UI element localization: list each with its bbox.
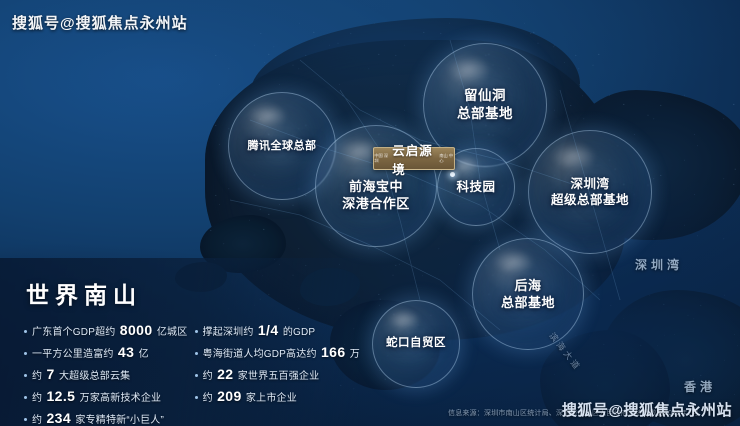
fact-prefix: 约: [203, 371, 213, 382]
fact-number: 22: [213, 366, 238, 382]
fact-item: 约 22 家世界五百强企业: [195, 366, 360, 382]
fact-suffix: 大超级总部云集: [59, 371, 130, 382]
fact-number: 166: [317, 344, 350, 360]
fact-item: 约 209 家上市企业: [195, 388, 360, 404]
fact-prefix: 广东首个GDP超约: [32, 327, 115, 338]
district-bubble-houhai[interactable]: 后海 总部基地: [472, 238, 584, 350]
fact-text: 约 234 家专精特新“小巨人”: [32, 410, 164, 426]
fact-text: 约 7 大超级总部云集: [32, 366, 130, 382]
fact-number: 43: [114, 344, 139, 360]
fact-number: 8000: [115, 322, 156, 338]
watermark-top-left: 搜狐号@搜狐焦点永州站: [12, 12, 188, 33]
fact-suffix: 家上市企业: [246, 393, 297, 404]
fact-prefix: 约: [32, 371, 42, 382]
bullet-dot-icon: [195, 352, 198, 355]
fact-number: 7: [42, 366, 59, 382]
fact-prefix: 约: [203, 393, 213, 404]
bullet-dot-icon: [24, 330, 27, 333]
fact-prefix: 一平方公里造富约: [32, 349, 114, 360]
bullet-dot-icon: [24, 374, 27, 377]
fact-prefix: 撑起深圳约: [203, 327, 254, 338]
bullet-dot-icon: [195, 396, 198, 399]
fact-prefix: 约: [32, 415, 42, 426]
fact-text: 广东首个GDP超约 8000 亿城区: [32, 322, 187, 338]
bullet-dot-icon: [195, 374, 198, 377]
district-bubble-shekou[interactable]: 蛇口自贸区: [372, 300, 460, 388]
fact-item: 撑起深圳约 1/4 的GDP: [195, 322, 360, 338]
fact-text: 撑起深圳约 1/4 的GDP: [203, 322, 316, 338]
district-bubble-shenzhenwan[interactable]: 深圳湾 超级总部基地: [528, 130, 652, 254]
badge-main-label: 云启源境: [392, 140, 436, 178]
map-marker-dot: [450, 172, 455, 177]
info-panel-title: 世界南山: [26, 276, 360, 310]
watermark-bottom-right: 搜狐号@搜狐焦点永州站: [562, 399, 732, 420]
fact-text: 约 209 家上市企业: [203, 388, 297, 404]
district-label-keji: 科技园: [456, 179, 495, 196]
fact-number: 1/4: [254, 322, 283, 338]
fact-item: 一平方公里造富约 43 亿: [24, 344, 191, 360]
fact-column-left: 广东首个GDP超约 8000 亿城区一平方公里造富约 43 亿约 7 大超级总部…: [24, 322, 191, 426]
district-label-houhai: 后海 总部基地: [501, 277, 555, 311]
fact-text: 约 12.5 万家高新技术企业: [32, 388, 161, 404]
bullet-dot-icon: [195, 330, 198, 333]
district-label-shenzhenwan: 深圳湾 超级总部基地: [551, 176, 629, 209]
fact-number: 12.5: [42, 388, 79, 404]
fact-item: 约 234 家专精特新“小巨人”: [24, 410, 191, 426]
map-infographic: 深圳湾 香港 滨海大道 腾讯全球总部 留仙洞 总部基地 前海宝中 深港合作区 科…: [0, 0, 740, 426]
fact-suffix: 亿: [139, 349, 149, 360]
badge-side-right: 南山 中心: [439, 154, 453, 163]
fact-prefix: 粤海街道人均GDP高达约: [203, 349, 317, 360]
district-label-shekou: 蛇口自贸区: [386, 336, 446, 351]
fact-suffix: 万家高新技术企业: [80, 393, 162, 404]
map-label-hong-kong: 香港: [684, 378, 716, 395]
fact-column-right: 撑起深圳约 1/4 的GDP粤海街道人均GDP高达约 166 万约 22 家世界…: [195, 322, 360, 426]
bullet-dot-icon: [24, 352, 27, 355]
fact-text: 粤海街道人均GDP高达约 166 万: [203, 344, 360, 360]
fact-text: 约 22 家世界五百强企业: [203, 366, 320, 382]
info-panel: 世界南山 广东首个GDP超约 8000 亿城区一平方公里造富约 43 亿约 7 …: [0, 258, 360, 426]
fact-item: 粤海街道人均GDP高达约 166 万: [195, 344, 360, 360]
district-label-tencent: 腾讯全球总部: [248, 139, 317, 154]
project-badge-yunqiyuanjing[interactable]: 中国 深圳 云启源境 南山 中心: [373, 147, 455, 170]
fact-item: 广东首个GDP超约 8000 亿城区: [24, 322, 191, 338]
fact-suffix: 家世界五百强企业: [238, 371, 320, 382]
fact-item: 约 12.5 万家高新技术企业: [24, 388, 191, 404]
fact-suffix: 亿城区: [157, 327, 188, 338]
fact-item: 约 7 大超级总部云集: [24, 366, 191, 382]
fact-suffix: 万: [350, 349, 360, 360]
fact-number: 209: [213, 388, 246, 404]
fact-suffix: 的GDP: [283, 327, 315, 338]
bullet-dot-icon: [24, 418, 27, 421]
info-panel-columns: 广东首个GDP超约 8000 亿城区一平方公里造富约 43 亿约 7 大超级总部…: [24, 322, 360, 426]
fact-prefix: 约: [32, 393, 42, 404]
bullet-dot-icon: [24, 396, 27, 399]
fact-suffix: 家专精特新“小巨人”: [75, 415, 164, 426]
map-label-shenzhen-bay: 深圳湾: [635, 256, 683, 273]
fact-text: 一平方公里造富约 43 亿: [32, 344, 149, 360]
fact-number: 234: [42, 410, 75, 426]
district-label-liuxiandong: 留仙洞 总部基地: [457, 87, 513, 123]
badge-side-left: 中国 深圳: [374, 154, 388, 163]
